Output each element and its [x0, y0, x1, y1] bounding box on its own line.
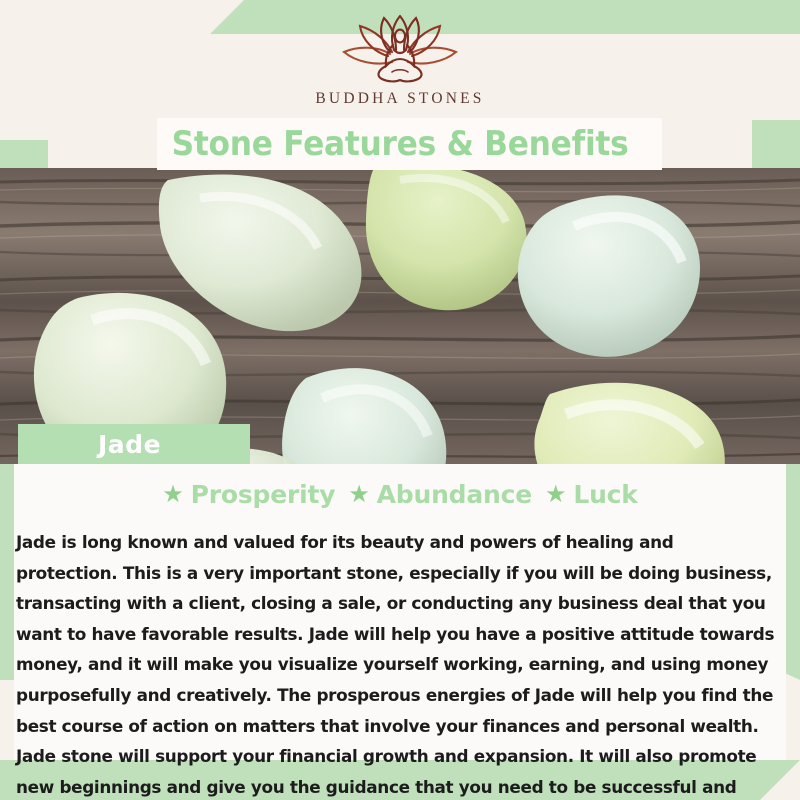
benefits-row: ★ Prosperity ★ Abundance ★ Luck	[0, 478, 800, 510]
brand-name: BUDDHA STONES	[315, 90, 484, 108]
brand-header: BUDDHA STONES	[0, 0, 800, 120]
infographic-card: BUDDHA STONES Stone Features & Benefits	[0, 0, 800, 800]
benefit-label: Luck	[573, 480, 637, 509]
description-block: Jade is long known and valued for its be…	[16, 511, 788, 800]
benefit-item-prosperity: ★ Prosperity	[162, 480, 335, 509]
page-title: Stone Features & Benefits	[32, 118, 768, 170]
benefit-item-luck: ★ Luck	[545, 480, 638, 509]
benefit-label: Prosperity	[191, 480, 336, 509]
lotus-meditation-icon	[330, 12, 470, 84]
stone-name-badge: Jade	[18, 424, 250, 464]
star-icon: ★	[545, 482, 566, 506]
description-text: Jade is long known and valued for its be…	[16, 528, 776, 800]
star-icon: ★	[162, 482, 183, 506]
star-icon: ★	[348, 482, 369, 506]
stone-photo	[0, 168, 800, 464]
benefit-label: Abundance	[377, 480, 532, 509]
stone-name-label: Jade	[98, 430, 161, 459]
benefit-item-abundance: ★ Abundance	[348, 480, 532, 509]
